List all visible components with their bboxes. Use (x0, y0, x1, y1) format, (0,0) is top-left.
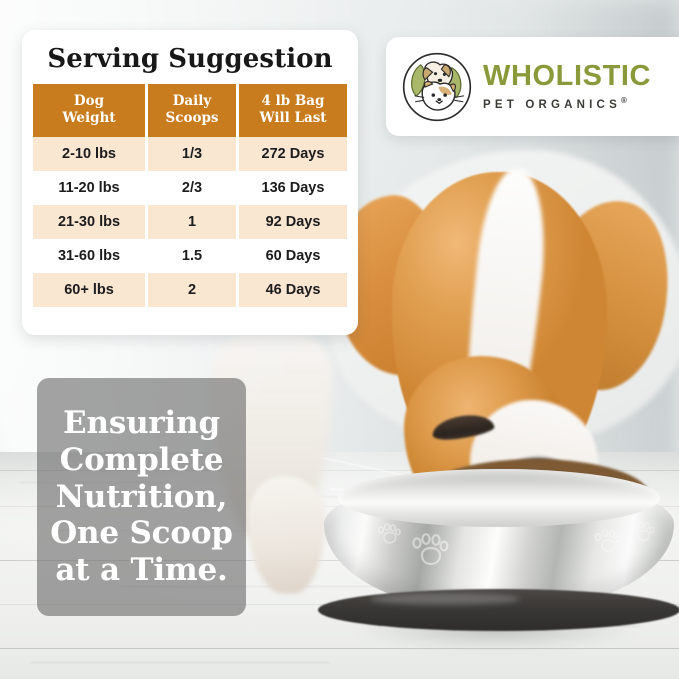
cell-bag-duration: 46 Days (239, 273, 347, 307)
cell-bag-duration: 272 Days (239, 137, 347, 171)
cell-dog-weight: 21-30 lbs (33, 205, 145, 239)
cell-daily-scoops: 2/3 (148, 171, 236, 205)
table-row: 21-30 lbs 1 92 Days (33, 205, 347, 239)
logo-wordmark: WHOLISTIC (483, 62, 651, 91)
cell-daily-scoops: 1/3 (148, 137, 236, 171)
column-header-dog-weight: Dog Weight (33, 84, 145, 137)
cell-dog-weight: 60+ lbs (33, 273, 145, 307)
cell-bag-duration: 92 Days (239, 205, 347, 239)
registered-trademark-icon: ® (621, 96, 627, 105)
paw-print-icon (630, 521, 656, 545)
table-row: 31-60 lbs 1.5 60 Days (33, 239, 347, 273)
table-row: 11-20 lbs 2/3 136 Days (33, 171, 347, 205)
dog-and-cat-circle-icon (400, 50, 474, 124)
brand-logo-card: WHOLISTIC PET ORGANICS® (386, 37, 679, 136)
bowl-base-highlight (370, 593, 520, 605)
cell-dog-weight: 31-60 lbs (33, 239, 145, 273)
marketing-tagline-panel: Ensuring Complete Nutrition, One Scoop a… (37, 378, 246, 616)
table-header-row: Dog Weight Daily Scoops 4 lb Bag Will La… (33, 84, 347, 137)
paw-print-icon (592, 529, 622, 555)
cell-daily-scoops: 2 (148, 273, 236, 307)
cell-bag-duration: 136 Days (239, 171, 347, 205)
product-infographic: Serving Suggestion Dog Weight Daily Scoo… (0, 0, 679, 679)
column-header-bag-duration: 4 lb Bag Will Last (239, 84, 347, 137)
dog-bowl (300, 455, 679, 655)
cell-dog-weight: 11-20 lbs (33, 171, 145, 205)
logo-sub-tagline: PET ORGANICS® (483, 97, 651, 111)
serving-suggestion-card: Serving Suggestion Dog Weight Daily Scoo… (22, 30, 358, 335)
bowl-rim (338, 469, 660, 527)
column-header-daily-scoops: Daily Scoops (148, 84, 236, 137)
logo-text-block: WHOLISTIC PET ORGANICS® (483, 62, 651, 111)
paw-print-icon (408, 533, 452, 571)
table-row: 60+ lbs 2 46 Days (33, 273, 347, 307)
table-row: 2-10 lbs 1/3 272 Days (33, 137, 347, 171)
tagline-text: Ensuring Complete Nutrition, One Scoop a… (50, 405, 233, 589)
serving-suggestion-table: Dog Weight Daily Scoops 4 lb Bag Will La… (30, 84, 350, 307)
cell-daily-scoops: 1 (148, 205, 236, 239)
cell-bag-duration: 60 Days (239, 239, 347, 273)
paw-print-icon (376, 523, 402, 547)
cell-daily-scoops: 1.5 (148, 239, 236, 273)
cell-dog-weight: 2-10 lbs (33, 137, 145, 171)
page-title: Serving Suggestion (22, 30, 358, 84)
